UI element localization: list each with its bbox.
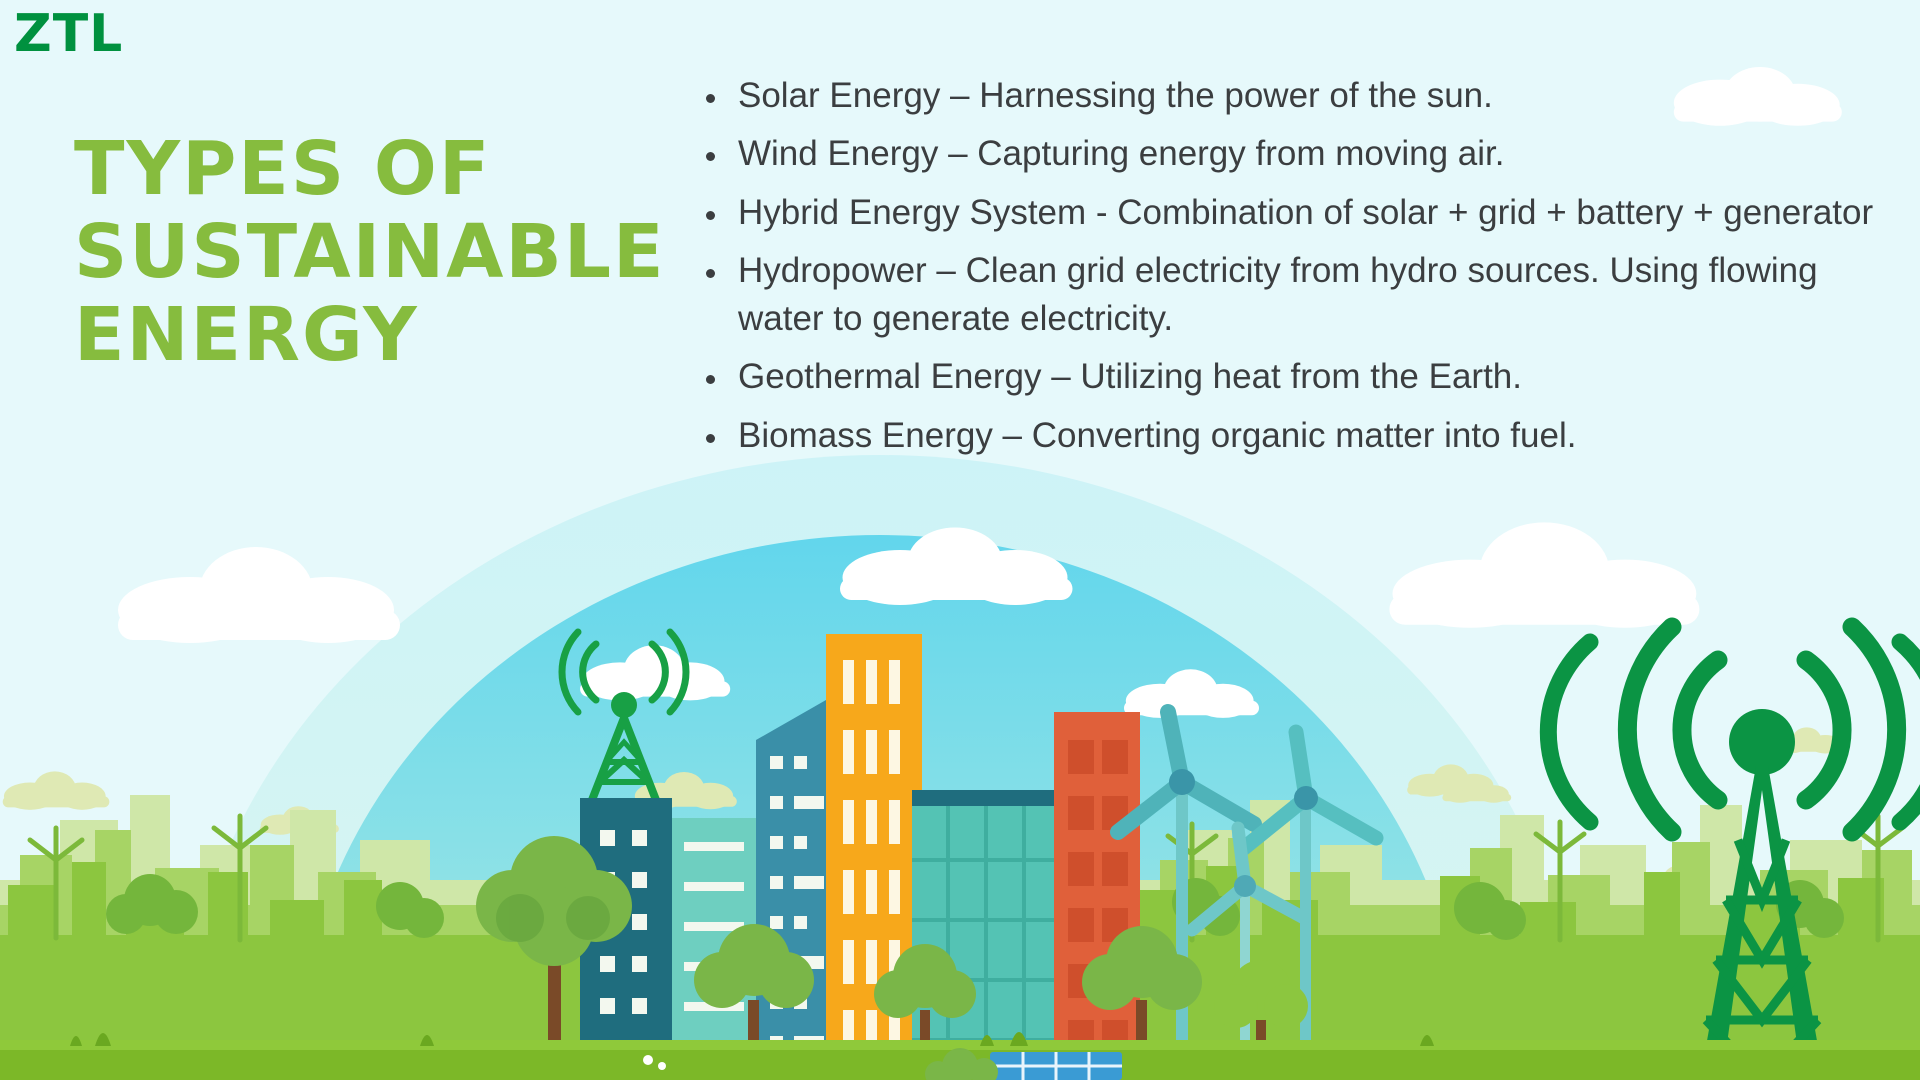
page-title: TYPES OF SUSTAINABLE ENERGY <box>74 128 674 377</box>
list-item: Biomass Energy – Converting organic matt… <box>690 412 1905 460</box>
list-item: Hydropower – Clean grid electricity from… <box>690 247 1905 344</box>
poster-canvas: ZTL TYPES OF SUSTAINABLE ENERGY Solar En… <box>0 0 1920 1080</box>
brand-logo: ZTL <box>14 8 123 60</box>
building-steel-blue <box>756 700 826 1080</box>
solar-panel <box>990 1052 1122 1080</box>
page-title-line-1: TYPES OF <box>74 128 674 211</box>
list-item: Solar Energy – Harnessing the power of t… <box>690 72 1905 120</box>
list-item: Hybrid Energy System - Combination of so… <box>690 189 1905 237</box>
list-item: Wind Energy – Capturing energy from movi… <box>690 130 1905 178</box>
page-title-line-3: ENERGY <box>74 294 674 377</box>
building-red <box>1054 712 1140 1080</box>
list-item: Geothermal Energy – Utilizing heat from … <box>690 353 1905 401</box>
energy-types-list: Solar Energy – Harnessing the power of t… <box>690 72 1905 470</box>
page-title-line-2: SUSTAINABLE <box>74 211 674 294</box>
